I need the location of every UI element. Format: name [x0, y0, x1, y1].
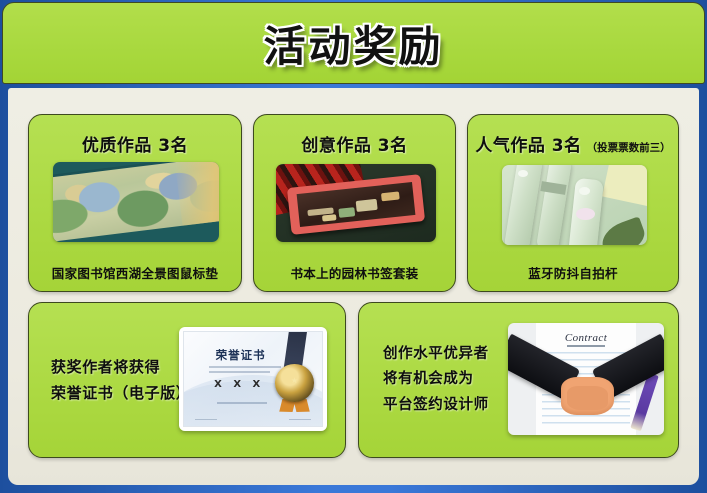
bonus-card-line: 平台签约设计师 — [383, 393, 489, 418]
prize-card-heading-sub: （投票票数前三） — [587, 142, 671, 154]
mousepad-west-lake-panorama-photo — [53, 162, 219, 242]
prize-card-caption: 蓝牙防抖自拍杆 — [468, 263, 678, 282]
bonus-card-line: 荣誉证书（电子版） — [51, 380, 191, 406]
prize-card-heading: 人气作品 3名 （投票票数前三） — [468, 131, 678, 156]
prize-card-heading-main: 创意作品 3名 — [301, 136, 407, 156]
content-panel: 优质作品 3名 国家图书馆西湖全景图鼠标垫 创意作品 3名 — [8, 88, 699, 485]
bonus-card-text: 创作水平优异者 将有机会成为 平台签约设计师 — [383, 342, 489, 418]
page-title: 活动奖励 — [263, 13, 443, 74]
contract-title: Contract — [508, 332, 664, 344]
prize-card-caption: 国家图书馆西湖全景图鼠标垫 — [29, 263, 241, 282]
prize-card-heading-main: 优质作品 3名 — [82, 136, 188, 156]
bonus-card-line: 获奖作者将获得 — [51, 354, 191, 380]
bonus-card-designer-contract[interactable]: 创作水平优异者 将有机会成为 平台签约设计师 Contract — [358, 302, 679, 458]
bonus-card-line: 创作水平优异者 — [383, 342, 489, 367]
bonus-card-certificate[interactable]: 获奖作者将获得 荣誉证书（电子版） 荣誉证书 X X X — [28, 302, 346, 458]
header-banner: 活动奖励 — [2, 2, 705, 84]
prize-card-heading: 优质作品 3名 — [29, 131, 241, 156]
garden-bookmark-set-photo — [276, 164, 436, 242]
prize-card-heading-main: 人气作品 3名 — [475, 136, 581, 156]
medal-seal-icon: ★ — [275, 364, 314, 402]
prize-card-creative[interactable]: 创意作品 3名 书本上的园林书签套装 — [253, 114, 456, 292]
prize-card-quality[interactable]: 优质作品 3名 国家图书馆西湖全景图鼠标垫 — [28, 114, 242, 292]
prize-card-heading: 创意作品 3名 — [254, 131, 455, 156]
promo-poster: 活动奖励 优质作品 3名 国家图书馆西湖全景图鼠标垫 创意作品 3名 — [0, 0, 707, 493]
prize-card-caption: 书本上的园林书签套装 — [254, 263, 455, 282]
bonus-card-line: 将有机会成为 — [383, 367, 489, 392]
bonus-card-text: 获奖作者将获得 荣誉证书（电子版） — [51, 354, 191, 407]
honour-certificate-photo: 荣誉证书 X X X ★ — [179, 327, 327, 431]
bluetooth-selfie-stick-photo — [502, 165, 647, 245]
contract-handshake-photo: Contract — [508, 323, 664, 435]
prize-card-popular[interactable]: 人气作品 3名 （投票票数前三） 蓝牙防抖自拍杆 — [467, 114, 679, 292]
certificate-title: 荣誉证书 — [184, 347, 297, 363]
